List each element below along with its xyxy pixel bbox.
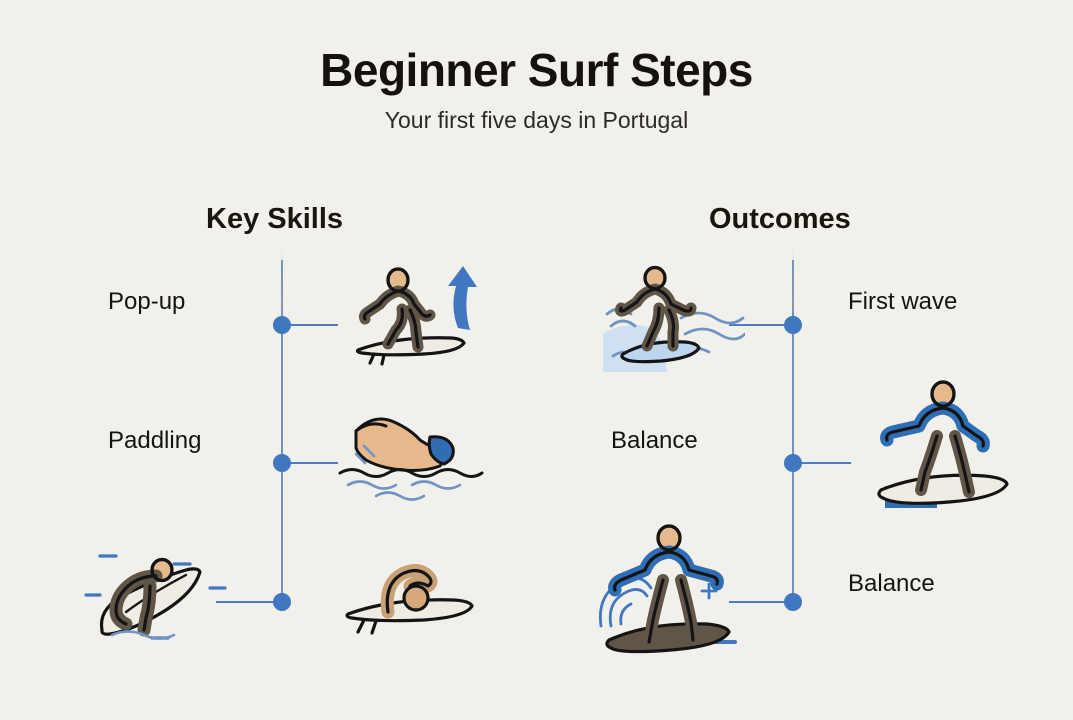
infographic-canvas: Beginner Surf Steps Your first five days…: [0, 0, 1073, 720]
connector-popup: [288, 324, 338, 326]
surfer-popup-arrow-icon: [344, 264, 484, 369]
key-skills-panel: Pop-up Paddling: [78, 252, 528, 672]
timeline-node-first-wave[interactable]: [784, 316, 802, 334]
row-label-popup: Pop-up: [108, 290, 185, 314]
surfer-balancing-blue-icon: [863, 378, 1023, 518]
timeline-spine-left: [281, 260, 283, 602]
column-heading-outcomes: Outcomes: [709, 203, 851, 236]
swimmer-freestyle-icon: [336, 404, 486, 504]
connector-balance-mid: [799, 462, 851, 464]
header: Beginner Surf Steps Your first five days…: [0, 46, 1073, 134]
timeline-node-third[interactable]: [273, 593, 291, 611]
timeline-node-balance-bottom[interactable]: [784, 593, 802, 611]
row-label-balance-bottom: Balance: [848, 572, 935, 596]
surfer-carving-wave-icon: [591, 522, 743, 662]
timeline-node-balance-mid[interactable]: [784, 454, 802, 472]
timeline-node-popup[interactable]: [273, 316, 291, 334]
row-label-first-wave: First wave: [848, 290, 957, 314]
timeline-node-paddling[interactable]: [273, 454, 291, 472]
row-label-paddling: Paddling: [108, 429, 201, 453]
column-heading-key-skills: Key Skills: [206, 203, 343, 236]
outcomes-panel: First wave Balance Balance: [583, 252, 1035, 672]
page-subtitle: Your first five days in Portugal: [0, 108, 1073, 133]
surfer-riding-wave-icon: [597, 260, 745, 378]
surfer-crouching-icon: [82, 542, 227, 647]
surfer-prone-paddling-icon: [336, 554, 486, 644]
connector-paddling: [288, 462, 338, 464]
row-label-balance-mid: Balance: [611, 429, 698, 453]
page-title: Beginner Surf Steps: [0, 46, 1073, 94]
timeline-spine-right: [792, 260, 794, 602]
